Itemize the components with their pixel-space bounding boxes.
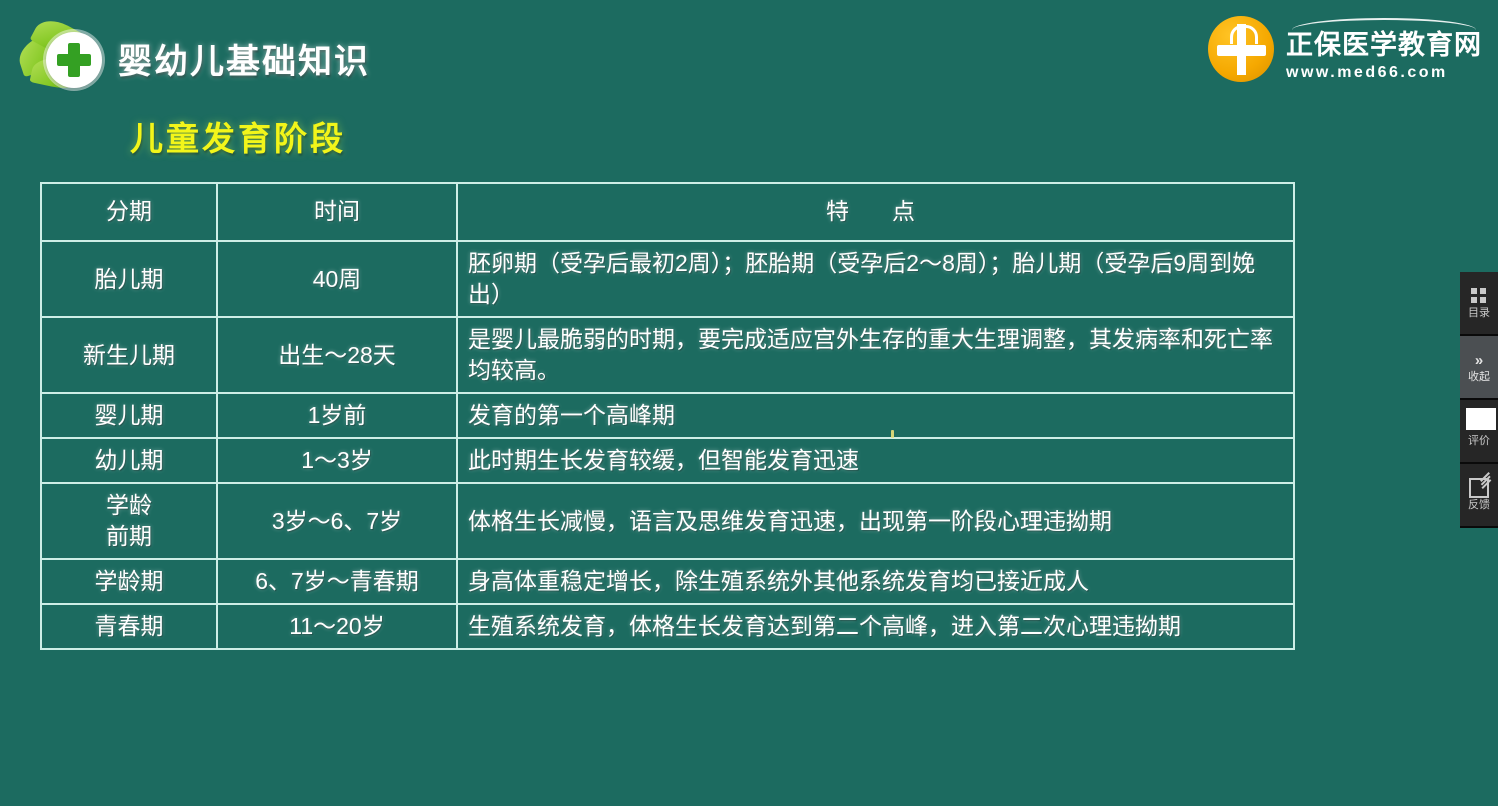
table-row: 幼儿期 1～3岁 此时期生长发育较缓，但智能发育迅速: [41, 438, 1294, 483]
site-url: www.med66.com: [1286, 65, 1482, 81]
tool-label: 反馈: [1468, 500, 1490, 511]
cell-time: 40周: [217, 241, 457, 317]
logo-arc-decoration: [1292, 18, 1476, 30]
table-row: 胎儿期 40周 胚卵期（受孕后最初2周）；胚胎期（受孕后2～8周）；胎儿期（受孕…: [41, 241, 1294, 317]
tool-item-collapse[interactable]: » 收起: [1460, 336, 1498, 400]
tool-item-feedback[interactable]: 反馈: [1460, 464, 1498, 528]
page-title: 婴幼儿基础知识: [118, 34, 370, 83]
cell-time: 6、7岁～青春期: [217, 559, 457, 604]
cell-phase: 青春期: [41, 604, 217, 649]
leaf-medical-cross-icon: [8, 14, 116, 94]
cell-time: 11～20岁: [217, 604, 457, 649]
medical-cross-icon: [57, 43, 91, 77]
cell-phase: 婴儿期: [41, 393, 217, 438]
tool-label: 目录: [1468, 308, 1490, 319]
site-logo-text: 正保医学教育网 www.med66.com: [1286, 18, 1482, 81]
cell-phase: 幼儿期: [41, 438, 217, 483]
slide-header: 婴幼儿基础知识 正保医学教育网 www.med66.com: [0, 0, 1498, 100]
tool-item-rating[interactable]: ★ 评价: [1460, 400, 1498, 464]
cell-feature: 身高体重稳定增长，除生殖系统外其他系统发育均已接近成人: [457, 559, 1294, 604]
med66-cross-logo-icon: [1208, 16, 1274, 82]
cell-feature: 此时期生长发育较缓，但智能发育迅速: [457, 438, 1294, 483]
cell-time: 3岁～6、7岁: [217, 483, 457, 559]
badge-circle: [46, 32, 102, 88]
cell-feature: 胚卵期（受孕后最初2周）；胚胎期（受孕后2～8周）；胎儿期（受孕后9周到娩出）: [457, 241, 1294, 317]
child-development-stages-table: 分期 时间 特 点 胎儿期 40周 胚卵期（受孕后最初2周）；胚胎期（受孕后2～…: [40, 182, 1295, 650]
tool-label: 收起: [1468, 372, 1490, 383]
column-header-time: 时间: [217, 183, 457, 241]
cell-phase: 学龄 前期: [41, 483, 217, 559]
site-name: 正保医学教育网: [1286, 32, 1482, 59]
cell-phase: 胎儿期: [41, 241, 217, 317]
column-header-phase: 分期: [41, 183, 217, 241]
rating-popup-overlay: [1466, 408, 1496, 430]
table-row: 青春期 11～20岁 生殖系统发育，体格生长发育达到第二个高峰，进入第二次心理违…: [41, 604, 1294, 649]
cell-feature: 发育的第一个高峰期: [457, 393, 1294, 438]
table-header-row: 分期 时间 特 点: [41, 183, 1294, 241]
grid-icon: [1471, 287, 1487, 305]
cell-time: 1岁前: [217, 393, 457, 438]
cell-phase: 学龄期: [41, 559, 217, 604]
cell-time: 出生～28天: [217, 317, 457, 393]
cell-feature: 体格生长减慢，语言及思维发育迅速，出现第一阶段心理违拗期: [457, 483, 1294, 559]
logo-horizontal-bar: [1217, 45, 1266, 56]
cell-feature: 是婴儿最脆弱的时期，要完成适应宫外生存的重大生理调整，其发病率和死亡率均较高。: [457, 317, 1294, 393]
cell-phase: 新生儿期: [41, 317, 217, 393]
table-row: 学龄期 6、7岁～青春期 身高体重稳定增长，除生殖系统外其他系统发育均已接近成人: [41, 559, 1294, 604]
chevron-right-double-icon: »: [1475, 351, 1483, 369]
logo-arch-shape: [1230, 25, 1258, 44]
cell-time: 1～3岁: [217, 438, 457, 483]
tool-item-catalog[interactable]: 目录: [1460, 272, 1498, 336]
site-logo: 正保医学教育网 www.med66.com: [1208, 10, 1482, 88]
cell-feature: 生殖系统发育，体格生长发育达到第二个高峰，进入第二次心理违拗期: [457, 604, 1294, 649]
right-tool-rail: 目录 » 收起 ★ 评价 反馈: [1460, 272, 1498, 528]
slide-title: 儿童发育阶段: [130, 112, 346, 160]
mouse-cursor: [891, 430, 894, 438]
table-row: 学龄 前期 3岁～6、7岁 体格生长减慢，语言及思维发育迅速，出现第一阶段心理违…: [41, 483, 1294, 559]
table-row: 婴儿期 1岁前 发育的第一个高峰期: [41, 393, 1294, 438]
table-row: 新生儿期 出生～28天 是婴儿最脆弱的时期，要完成适应宫外生存的重大生理调整，其…: [41, 317, 1294, 393]
column-header-features: 特 点: [457, 183, 1294, 241]
tool-label: 评价: [1468, 436, 1490, 447]
slide-screen: 婴幼儿基础知识 正保医学教育网 www.med66.com 儿童发育阶段 分期 …: [0, 0, 1498, 806]
pencil-edit-icon: [1469, 479, 1489, 497]
